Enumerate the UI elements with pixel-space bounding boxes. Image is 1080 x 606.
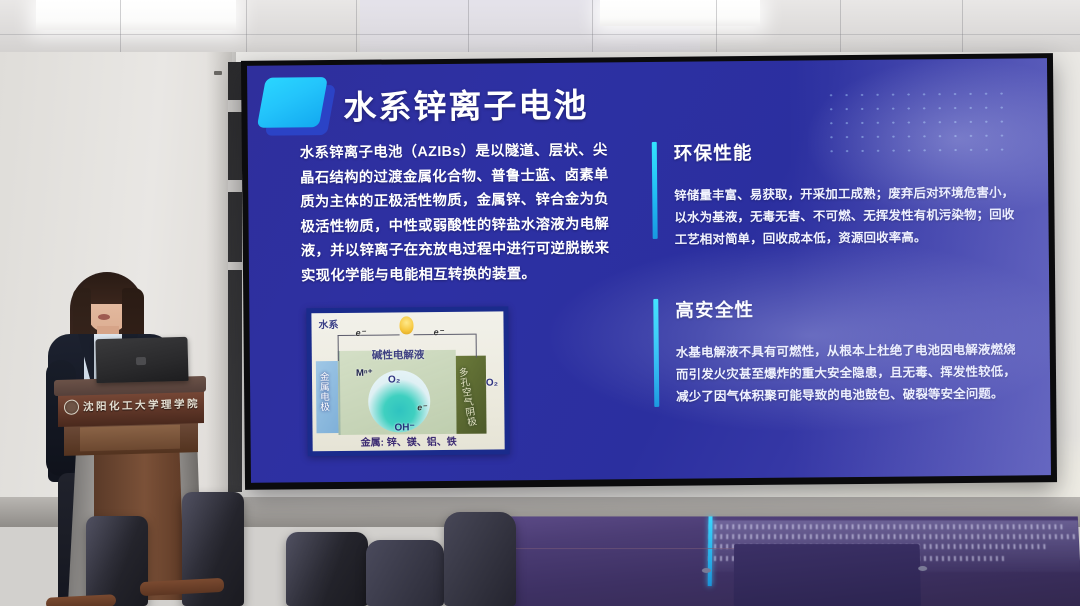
battery-schematic-figure: 水系 碱性电解液 金属电极 多孔空气阴极 O₂ O₂ OH⁻ Mⁿ⁺ e⁻ e⁻… <box>306 306 509 456</box>
section-accent-bar <box>652 142 658 239</box>
laptop-logo-icon <box>136 357 146 365</box>
section-environmental: 环保性能 锌储量丰富、易获取，开采加工成熟；废弃后对环境危害小，以水为基液，无毒… <box>652 136 1021 251</box>
table-cable-grommet <box>702 568 711 573</box>
wall-display-bezel[interactable]: 水系锌离子电池 水系锌离子电池（AZIBs）是以隧道、层状、尖晶石结构的过渡金属… <box>241 53 1057 490</box>
section-heading: 环保性能 <box>674 136 1020 165</box>
chair-back <box>86 516 148 606</box>
university-emblem-icon <box>64 399 79 414</box>
lightbulb-icon <box>399 316 413 334</box>
slide-left-column: 水系锌离子电池（AZIBs）是以隧道、层状、尖晶石结构的过渡金属化合物、普鲁士蓝… <box>300 138 619 289</box>
podium-nameplate: 沈阳化工大学理学院 <box>60 392 204 418</box>
figure-label-aqueous: 水系 <box>318 316 338 331</box>
slide-title: 水系锌离子电池 <box>343 79 588 129</box>
chair-seat-foreground <box>286 532 368 606</box>
slide-right-column: 环保性能 锌储量丰富、易获取，开采加工成熟；废弃后对环境危害小，以水为基液，无毒… <box>652 136 1023 454</box>
vent-slat <box>228 180 242 192</box>
presenter-mouth <box>98 314 110 320</box>
figure-label-metal-electrode: 金属电极 <box>320 373 337 413</box>
reflection-line <box>708 534 1079 539</box>
figure-label-electrolyte: 碱性电解液 <box>372 347 425 363</box>
table-inset-panel <box>734 544 921 606</box>
title-shape-front <box>257 77 328 128</box>
podium-apron-inset <box>80 425 180 452</box>
section-body: 锌储量丰富、易获取，开采加工成熟；废弃后对环境危害小，以水为基液，无毒无害、不可… <box>674 181 1021 251</box>
presentation-screen[interactable]: 水系锌离子电池 水系锌离子电池（AZIBs）是以隧道、层状、尖晶石结构的过渡金属… <box>247 58 1051 483</box>
chair-highlight <box>286 532 368 606</box>
section-body: 水基电解液不具有可燃性，从根本上杜绝了电池因电解液燃烧而引发火灾甚至爆炸的重大安… <box>676 339 1023 409</box>
table-reflection-accent <box>708 516 713 586</box>
figure-wire <box>338 335 339 361</box>
section-accent-bar <box>653 299 659 407</box>
lead-paragraph: 水系锌离子电池（AZIBs）是以隧道、层状、尖晶石结构的过渡金属化合物、普鲁士蓝… <box>300 138 619 289</box>
table-seam <box>479 548 748 549</box>
reflection-line <box>708 524 1066 529</box>
ceiling-grid-line <box>0 34 1080 35</box>
figure-caption: 金属: 锌、镁、铝、铁 <box>313 432 505 449</box>
figure-label-electron-right: e⁻ <box>434 327 444 338</box>
vent-slat <box>228 100 242 112</box>
figure-label-cation: Mⁿ⁺ <box>356 368 373 379</box>
table-cable-grommet <box>918 566 927 571</box>
figure-wire <box>338 334 400 336</box>
conference-room-scene: 水系锌离子电池 水系锌离子电池（AZIBs）是以隧道、层状、尖晶石结构的过渡金属… <box>0 0 1080 606</box>
laptop-on-podium[interactable] <box>95 337 188 383</box>
figure-canvas: 水系 碱性电解液 金属电极 多孔空气阴极 O₂ O₂ OH⁻ Mⁿ⁺ e⁻ e⁻… <box>311 311 504 451</box>
figure-label-hydroxide: OH⁻ <box>394 422 414 433</box>
podium-institution-text: 沈阳化工大学理学院 <box>83 396 200 414</box>
wall-sensor-icon <box>214 71 222 75</box>
figure-label-electron-left: e⁻ <box>356 328 366 339</box>
title-decoration-shape <box>261 77 336 136</box>
ceiling-light-panel <box>600 0 760 26</box>
chair-seat-foreground <box>366 540 444 606</box>
wall-vent <box>228 62 242 492</box>
figure-wire <box>414 334 476 336</box>
figure-label-electron-inner: e⁻ <box>417 402 426 413</box>
figure-wire <box>476 334 477 358</box>
vent-slat <box>228 262 242 270</box>
section-safety: 高安全性 水基电解液不具有可燃性，从根本上杜绝了电池因电解液燃烧而引发火灾甚至爆… <box>653 294 1022 409</box>
conference-table <box>476 516 1080 606</box>
chair-highlight <box>86 516 148 606</box>
chair-back <box>444 512 516 606</box>
figure-label-oxygen-right: O₂ <box>486 377 498 388</box>
ceiling-light-panel <box>36 0 236 30</box>
section-heading: 高安全性 <box>675 294 1021 323</box>
figure-label-oxygen-left: O₂ <box>388 374 400 385</box>
